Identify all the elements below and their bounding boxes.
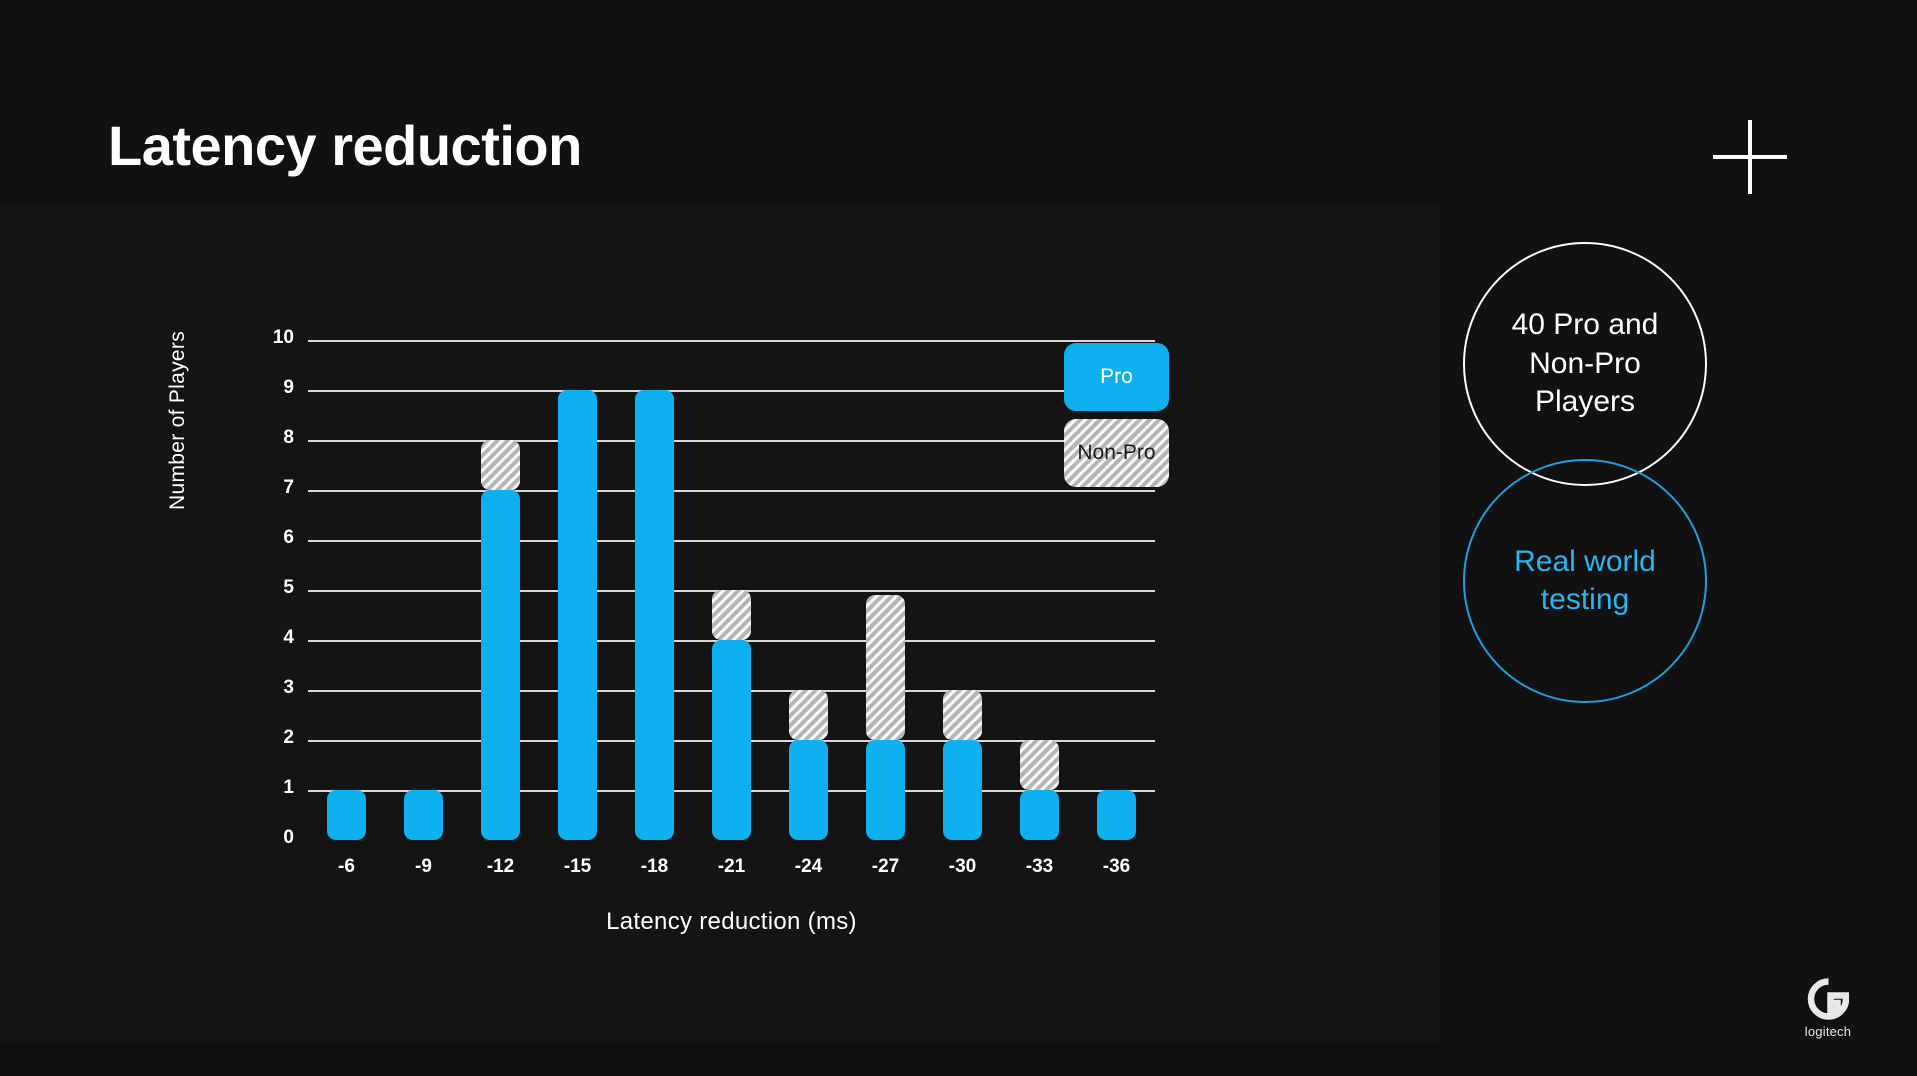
x-axis-tick-label: -6 [308,856,385,878]
x-axis-tick-label: -27 [847,856,924,878]
plot-area: 012345678910 -6-9-12-15-18-21-24-27-30-3… [260,340,1155,840]
legend-item-pro[interactable]: Pro [1064,343,1169,411]
x-axis-tick-label: -30 [924,856,1001,878]
x-axis-tick-labels: -6-9-12-15-18-21-24-27-30-33-36 [308,340,1155,840]
y-axis-tick-label: 5 [260,577,294,599]
x-axis-tick-label: -9 [385,856,462,878]
logitech-g-icon [1807,978,1849,1020]
y-axis-tick-label: 9 [260,377,294,399]
y-axis-tick-label: 3 [260,677,294,699]
legend-label-pro: Pro [1100,365,1133,389]
x-axis-tick-label: -15 [539,856,616,878]
callout-players: 40 Pro and Non-Pro Players [1463,242,1707,486]
logitech-logo: logitech [1793,978,1863,1039]
x-axis-tick-label: -24 [770,856,847,878]
legend-label-non-pro: Non-Pro [1077,441,1155,465]
page-title: Latency reduction [108,118,582,174]
y-axis-tick-label: 1 [260,777,294,799]
plus-icon-vertical-stroke [1748,120,1752,194]
y-axis-title: Number of Players [166,331,190,510]
y-axis-tick-label: 8 [260,427,294,449]
x-axis-tick-label: -33 [1001,856,1078,878]
x-axis-tick-label: -36 [1078,856,1155,878]
x-axis-tick-label: -18 [616,856,693,878]
logitech-wordmark: logitech [1793,1024,1863,1039]
callout-real-world-testing: Real world testing [1463,459,1707,703]
y-axis-tick-label: 7 [260,477,294,499]
x-axis-tick-label: -21 [693,856,770,878]
legend-item-non-pro[interactable]: Non-Pro [1064,419,1169,487]
y-axis-tick-label: 10 [260,327,294,349]
x-axis-tick-label: -12 [462,856,539,878]
bar-chart: Number of Players 012345678910 -6-9-12-1… [180,320,1210,940]
callout-players-text: 40 Pro and Non-Pro Players [1482,306,1688,421]
y-axis-tick-label: 0 [260,827,294,849]
chart-legend: Pro Non-Pro [1064,343,1169,495]
slide-root: Latency reduction Number of Players 0123… [0,0,1917,1076]
y-axis-tick-label: 6 [260,527,294,549]
y-axis-tick-label: 4 [260,627,294,649]
x-axis-title: Latency reduction (ms) [308,908,1155,936]
plus-icon [1713,120,1787,194]
callout-testing-text: Real world testing [1482,543,1688,620]
y-axis-tick-label: 2 [260,727,294,749]
